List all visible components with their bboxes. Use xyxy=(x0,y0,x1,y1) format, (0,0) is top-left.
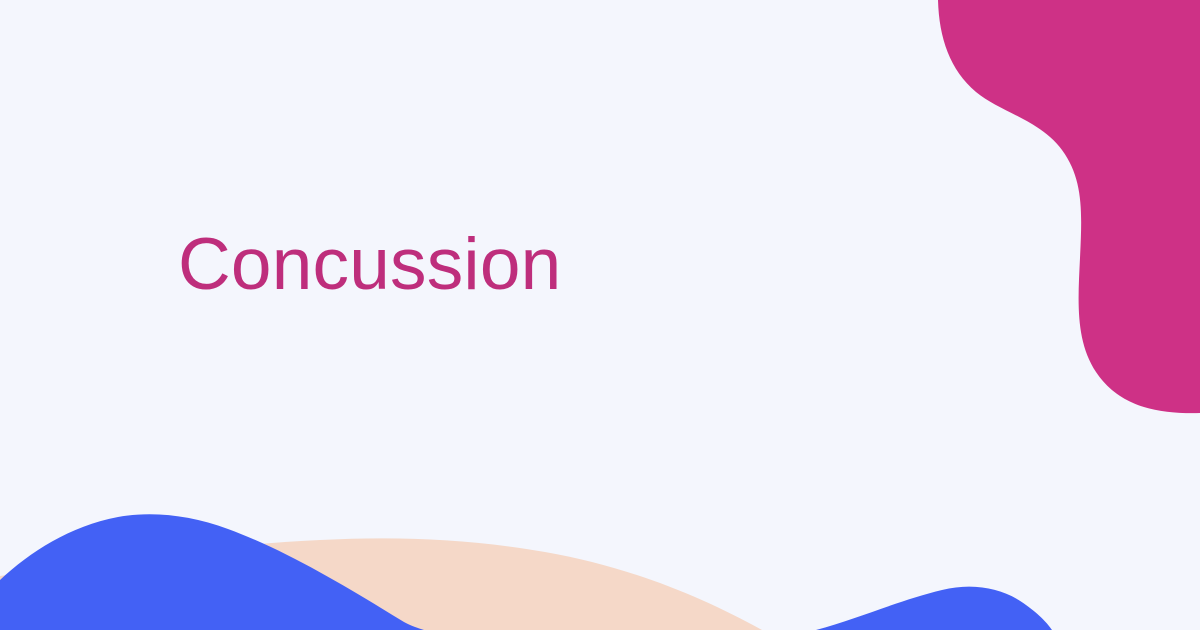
background-decoration-art xyxy=(0,0,1200,630)
hero-canvas: Concussion xyxy=(0,0,1200,630)
page-title: Concussion xyxy=(178,228,561,301)
